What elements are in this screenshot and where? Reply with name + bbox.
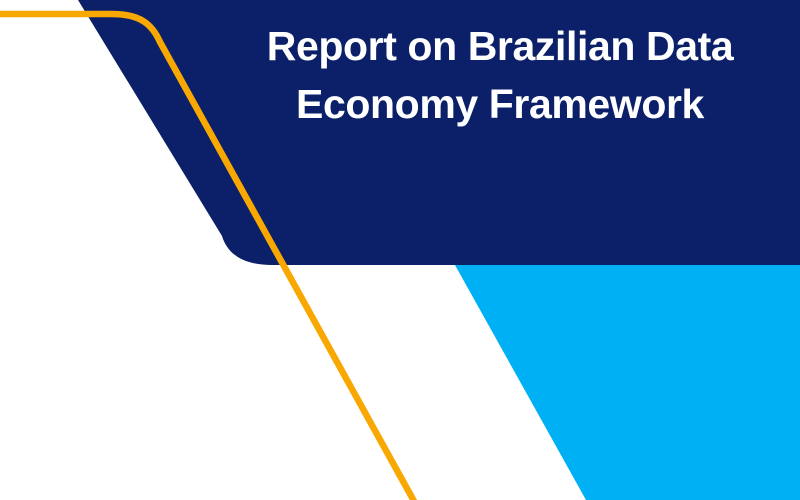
cyan-wedge-shape xyxy=(455,265,800,500)
report-cover-page: Report on Brazilian Data Economy Framewo… xyxy=(0,0,800,500)
cover-artwork xyxy=(0,0,800,500)
navy-banner-shape xyxy=(78,0,800,265)
